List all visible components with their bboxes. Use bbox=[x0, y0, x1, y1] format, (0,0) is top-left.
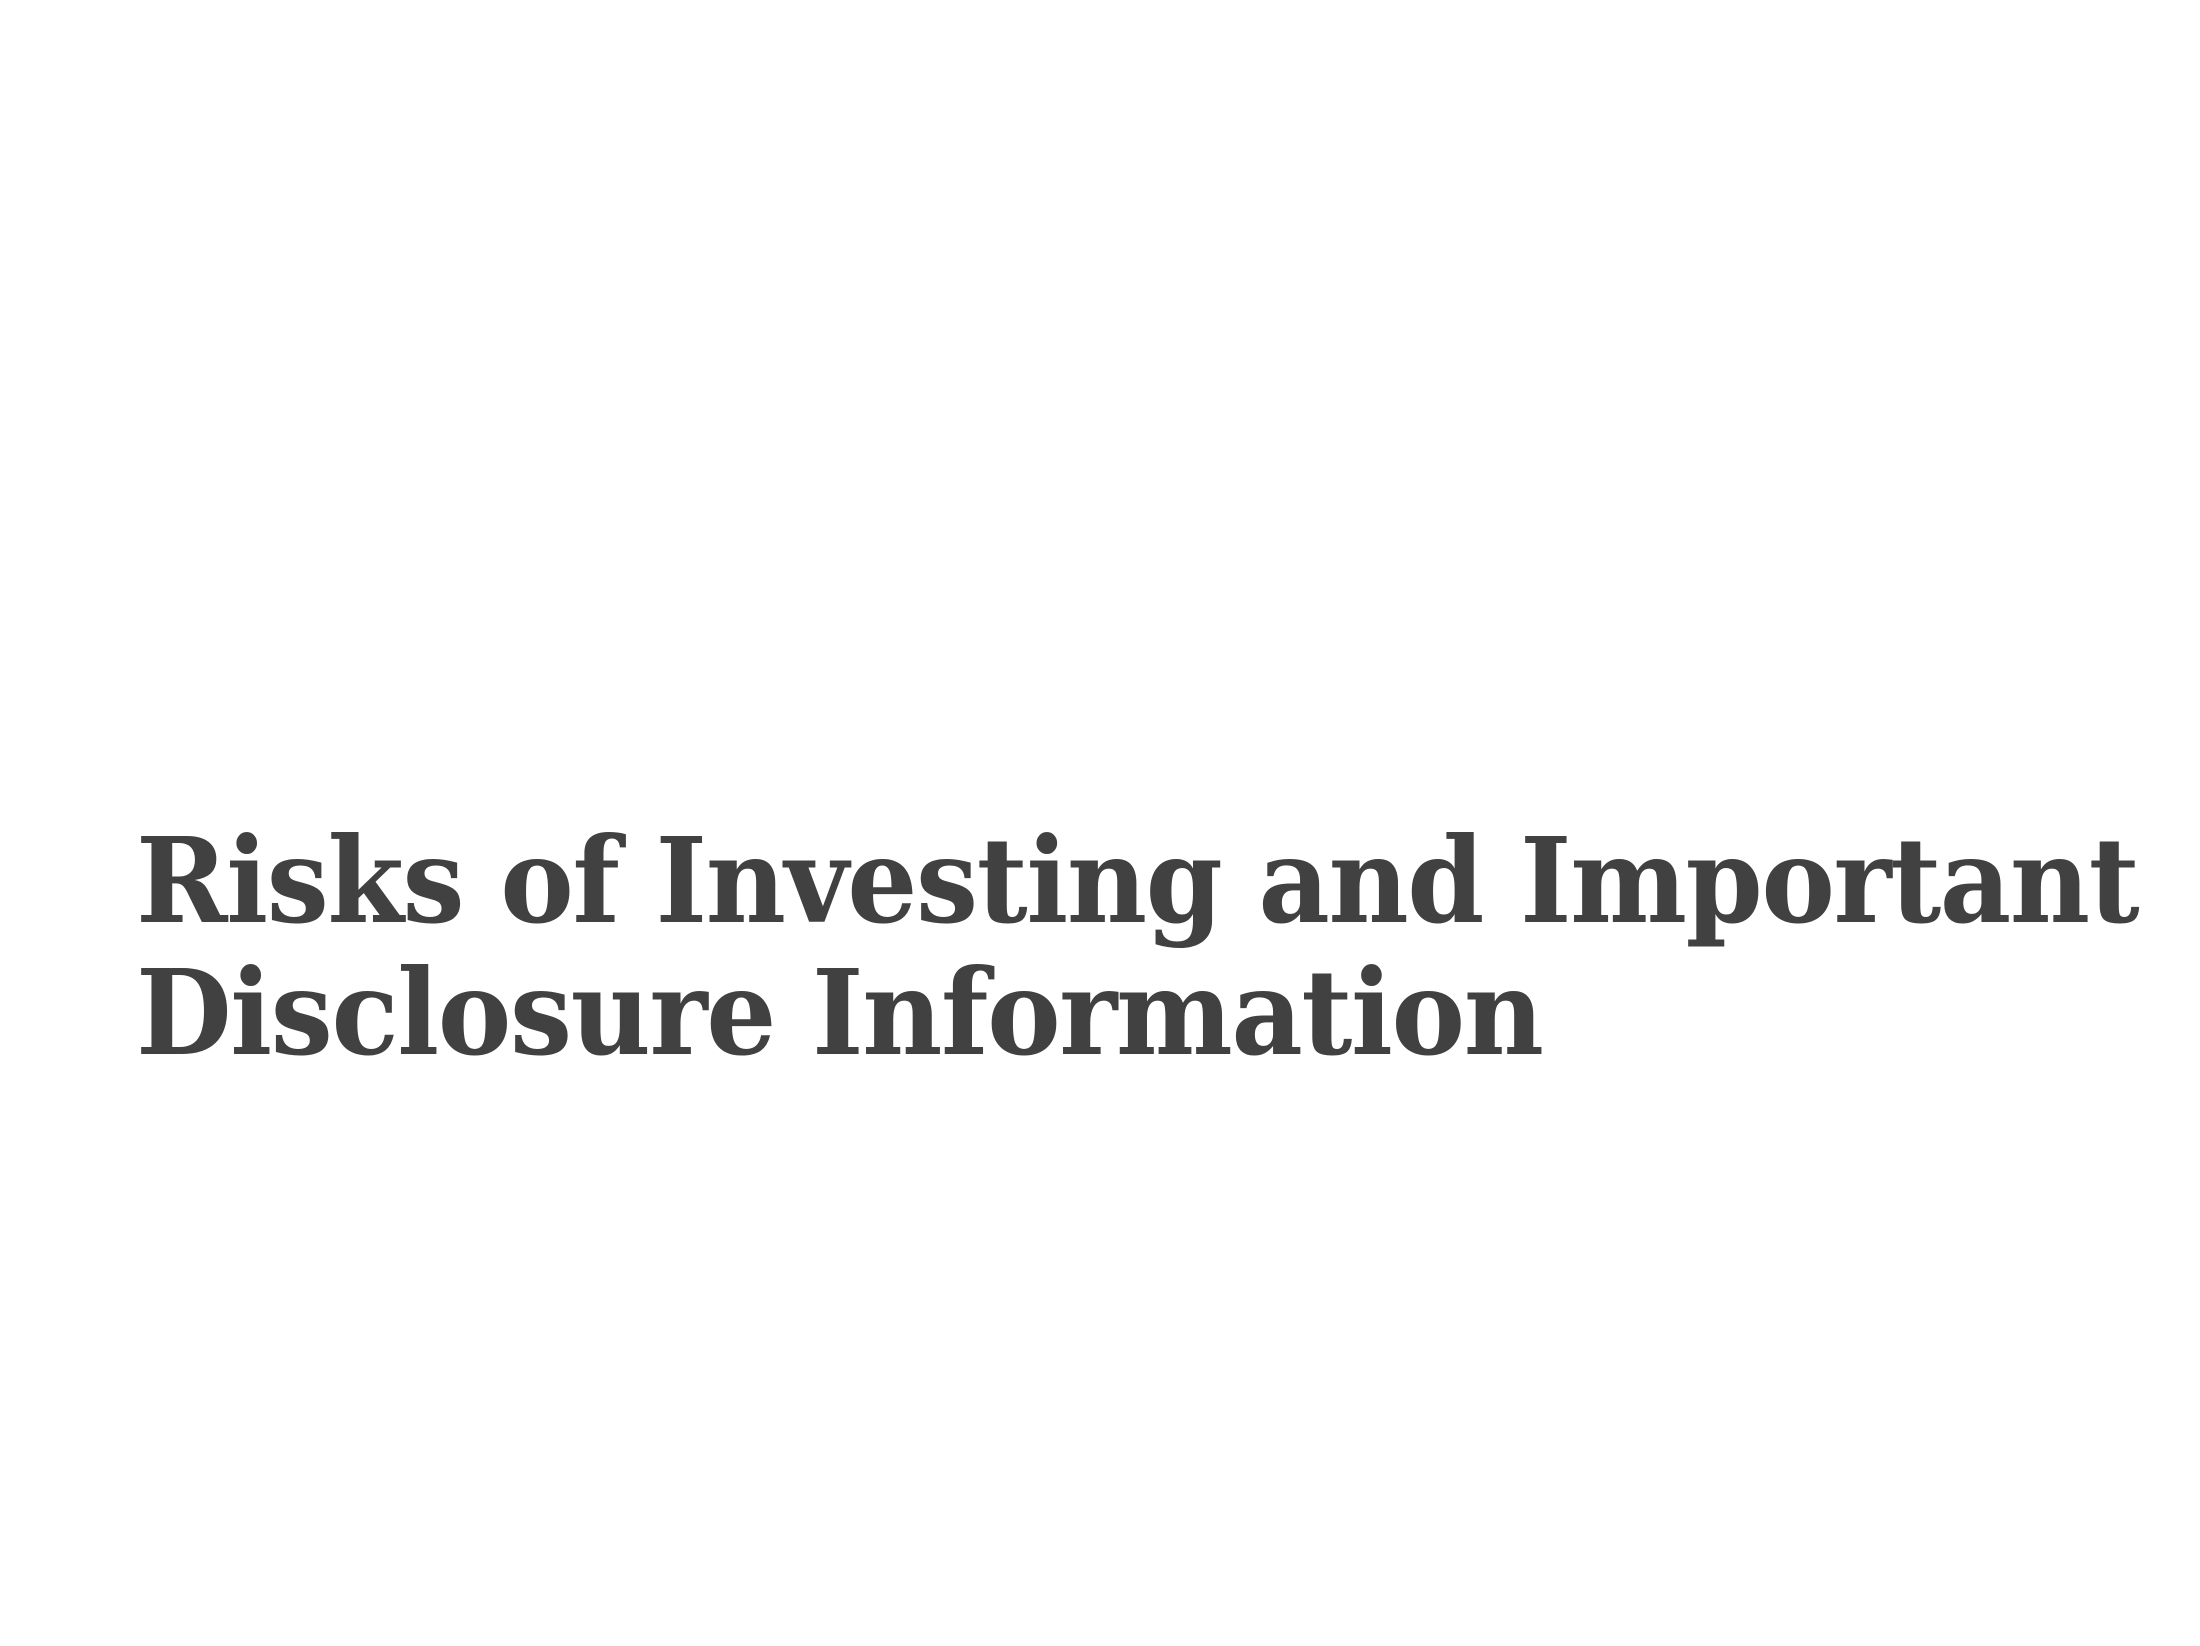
page-title: Risks of Investing and Important Disclos… bbox=[136, 815, 2036, 1079]
slide-canvas: Risks of Investing and Important Disclos… bbox=[0, 0, 2200, 1646]
slide-footer: MASTERW O RKS THIS PRESENTATION IS BEING… bbox=[0, 1520, 2200, 1646]
page-title-line-1: Risks of Investing and Important bbox=[136, 815, 1913, 947]
page-title-line-2: Disclosure Information bbox=[136, 947, 1913, 1079]
